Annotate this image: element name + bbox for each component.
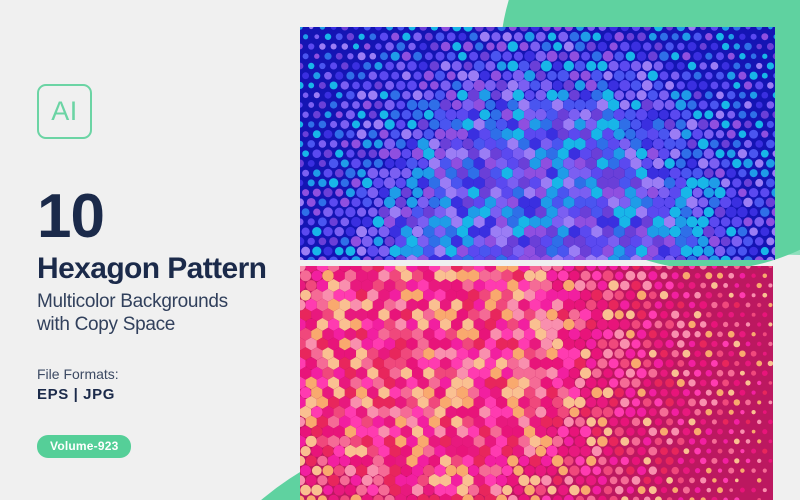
page-subtitle: Multicolor Backgrounds with Copy Space [37,290,292,336]
volume-badge: Volume-923 [37,435,131,458]
ai-format-badge: AI [37,84,92,139]
blue-hexagon-artwork [300,27,775,260]
subtitle-line-1: Multicolor Backgrounds [37,290,292,313]
product-info-block: AI 10 Hexagon Pattern Multicolor Backgro… [37,84,292,458]
item-count: 10 [37,188,292,245]
poster-canvas: AI 10 Hexagon Pattern Multicolor Backgro… [0,0,800,500]
ai-badge-label: AI [51,96,78,127]
pink-hexagon-artwork [300,266,773,500]
page-title: Hexagon Pattern [37,254,292,285]
file-formats-label: File Formats: [37,366,292,382]
blue-hexagon-pattern-panel [300,27,775,260]
pink-hexagon-pattern-panel [300,266,773,500]
file-formats-value: EPS | JPG [37,386,292,403]
subtitle-line-2: with Copy Space [37,313,292,336]
